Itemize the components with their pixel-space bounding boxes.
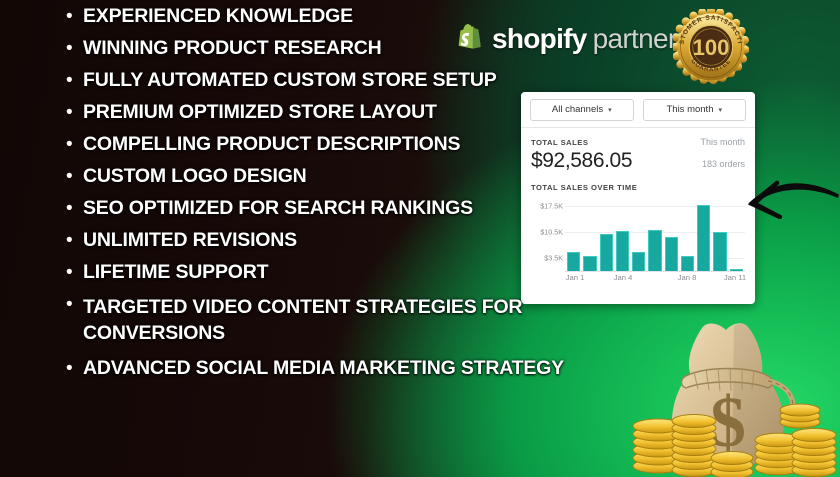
- list-item-label: CUSTOM LOGO DESIGN: [83, 166, 307, 186]
- list-item-label: UNLIMITED REVISIONS: [83, 230, 297, 250]
- feature-list: • EXPERIENCED KNOWLEDGE • WINNING PRODUC…: [66, 6, 626, 390]
- list-item: • PREMIUM OPTIMIZED STORE LAYOUT: [66, 102, 626, 123]
- period-label: This month: [700, 137, 745, 147]
- bullet-dot-icon: •: [66, 199, 83, 219]
- list-item-label: WINNING PRODUCT RESEARCH: [83, 38, 382, 58]
- chart-bar: [697, 205, 710, 271]
- customer-satisfaction-badge: CUSTOMER SATISFACTION GUARANTEE 100: [673, 9, 749, 85]
- bullet-dot-icon: •: [66, 359, 83, 379]
- list-item: • FULLY AUTOMATED CUSTOM STORE SETUP: [66, 70, 626, 91]
- list-item-label: SEO OPTIMIZED FOR SEARCH RANKINGS: [83, 198, 473, 218]
- bullet-dot-icon: •: [66, 135, 83, 155]
- list-item-label: TARGETED VIDEO CONTENT STRATEGIES FOR CO…: [83, 294, 522, 346]
- badge-score: 100: [693, 35, 730, 60]
- bullet-dot-icon: •: [66, 231, 83, 251]
- shopify-bag-icon: [455, 23, 485, 55]
- chart-bar: [648, 230, 661, 271]
- list-item: • SEO OPTIMIZED FOR SEARCH RANKINGS: [66, 198, 626, 219]
- bullet-dot-icon: •: [66, 7, 83, 27]
- orders-count: 183 orders: [702, 159, 745, 169]
- x-axis-tick-label: Jan 8: [678, 273, 697, 282]
- bullet-dot-icon: •: [66, 39, 83, 59]
- list-item-label: ADVANCED SOCIAL MEDIA MARKETING STRATEGY: [83, 358, 564, 378]
- bullet-dot-icon: •: [66, 263, 83, 283]
- list-item-label: EXPERIENCED KNOWLEDGE: [83, 6, 353, 26]
- list-item: • TARGETED VIDEO CONTENT STRATEGIES FOR …: [66, 294, 626, 346]
- x-axis-tick-label: Jan 11: [724, 273, 746, 282]
- shopify-partners-logo: shopify partners: [455, 23, 690, 55]
- list-item-label: PREMIUM OPTIMIZED STORE LAYOUT: [83, 102, 437, 122]
- list-item: • UNLIMITED REVISIONS: [66, 230, 626, 251]
- list-item: • ADVANCED SOCIAL MEDIA MARKETING STRATE…: [66, 358, 626, 379]
- list-item: • CUSTOM LOGO DESIGN: [66, 166, 626, 187]
- date-range-dropdown[interactable]: This month ▾: [643, 99, 747, 121]
- chart-bar: [632, 252, 645, 271]
- chart-bar: [665, 237, 678, 271]
- promo-banner: • EXPERIENCED KNOWLEDGE • WINNING PRODUC…: [0, 0, 840, 477]
- money-bag-illustration: $: [628, 318, 840, 477]
- list-item: • COMPELLING PRODUCT DESCRIPTIONS: [66, 134, 626, 155]
- bullet-dot-icon: •: [66, 295, 83, 315]
- list-item-label: LIFETIME SUPPORT: [83, 262, 268, 282]
- chart-bar: [681, 256, 694, 272]
- chevron-down-icon: ▾: [718, 106, 722, 114]
- list-item-label: COMPELLING PRODUCT DESCRIPTIONS: [83, 134, 460, 154]
- bullet-dot-icon: •: [66, 167, 83, 187]
- bullet-dot-icon: •: [66, 71, 83, 91]
- list-item-label: FULLY AUTOMATED CUSTOM STORE SETUP: [83, 70, 497, 90]
- date-range-label: This month: [666, 104, 713, 115]
- list-item: • LIFETIME SUPPORT: [66, 262, 626, 283]
- chart-bar: [713, 232, 726, 272]
- brand-name: shopify: [492, 23, 587, 55]
- bullet-dot-icon: •: [66, 103, 83, 123]
- pointer-arrow-icon: [735, 172, 840, 234]
